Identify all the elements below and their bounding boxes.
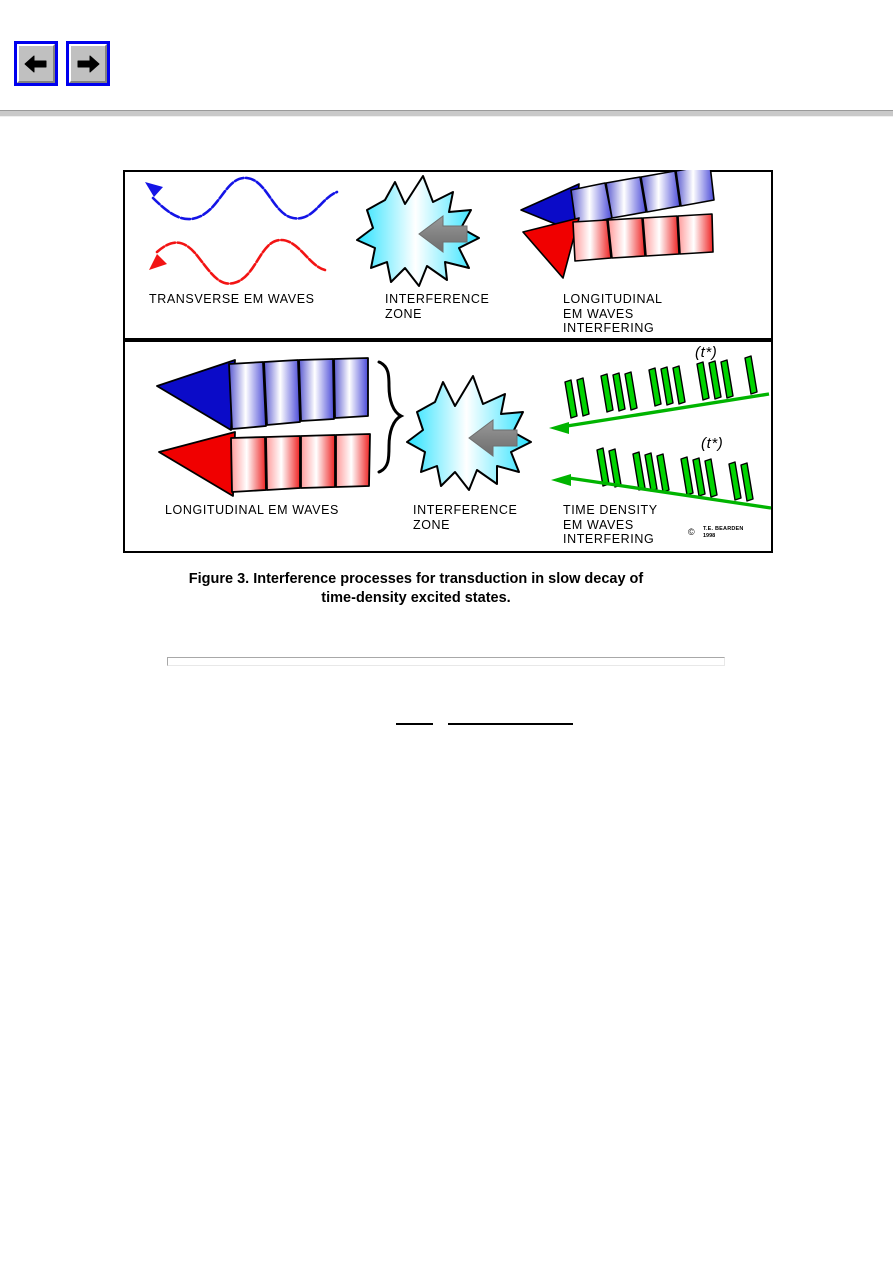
back-button-face: [17, 44, 55, 83]
figure-caption: Figure 3. Interference processes for tra…: [136, 570, 696, 608]
copyright-year: 1998: [703, 534, 715, 540]
caption-line-2: time-density excited states.: [136, 589, 696, 608]
label-longitudinal-em-waves: LONGITUDINAL EM WAVES: [165, 503, 339, 518]
figure-border: [123, 170, 773, 553]
header-divider: [0, 110, 893, 117]
label-transverse-em-waves: TRANSVERSE EM WAVES: [149, 292, 315, 307]
annotation-t-star-bottom: (t*): [701, 437, 723, 452]
back-button[interactable]: [14, 41, 58, 86]
horizontal-rule: [167, 657, 725, 666]
figure-panel-divider: [123, 338, 773, 342]
forward-button-face: [69, 44, 107, 83]
link-underline-long[interactable]: [448, 723, 573, 725]
arrow-right-icon: [75, 53, 101, 75]
forward-button[interactable]: [66, 41, 110, 86]
arrow-left-icon: [23, 53, 49, 75]
link-underline-short[interactable]: [396, 723, 433, 725]
label-longitudinal-em-waves-interfering: LONGITUDINAL EM WAVES INTERFERING: [563, 292, 663, 336]
annotation-t-star-top: (t*): [695, 346, 717, 361]
label-interference-zone-top: INTERFERENCE ZONE: [385, 292, 489, 321]
caption-line-1: Figure 3. Interference processes for tra…: [189, 571, 643, 587]
label-interference-zone-bottom: INTERFERENCE ZONE: [413, 503, 517, 532]
label-time-density-em-waves-interfering: TIME DENSITY EM WAVES INTERFERING: [563, 503, 658, 547]
figure-3-image: TRANSVERSE EM WAVES INTERFERENCE ZONE LO…: [123, 170, 773, 553]
navigation-bar: [14, 41, 110, 86]
copyright-name: T.E. BEARDEN: [703, 527, 744, 533]
copyright-symbol: ©: [688, 528, 695, 537]
